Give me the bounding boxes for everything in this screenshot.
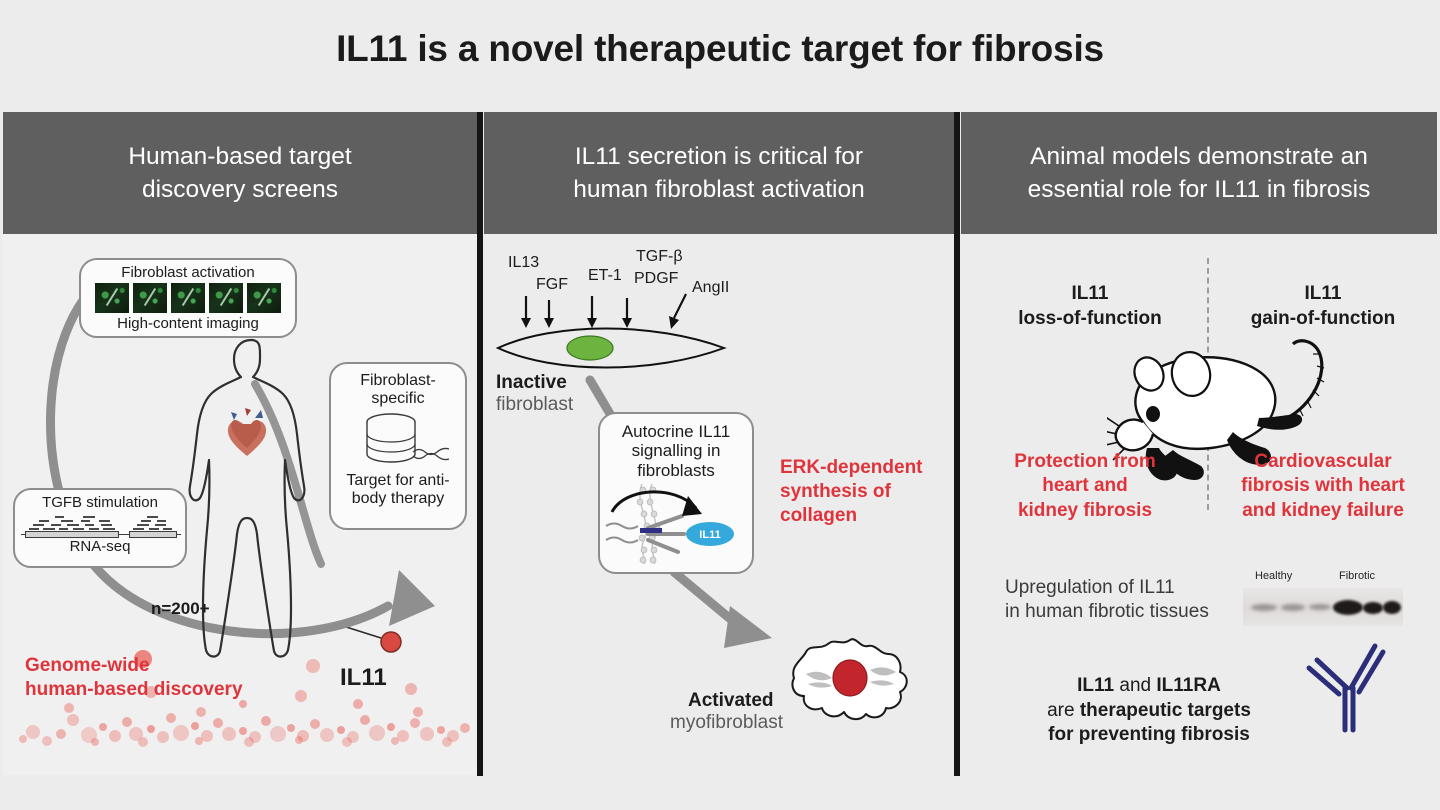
fibroblast-activation-callout: Fibroblast activation High-content imagi… bbox=[79, 258, 297, 338]
conclusion-il11: IL11 bbox=[1077, 675, 1114, 696]
gain-outcome-line-2: fibrosis with heart bbox=[1215, 474, 1431, 498]
heart-icon bbox=[228, 408, 266, 456]
loss-of-function-label: IL11 loss-of-function bbox=[985, 282, 1195, 331]
blot-caption: Upregulation of IL11 in human fibrotic t… bbox=[1005, 576, 1209, 625]
gain-outcome-line-1: Cardiovascular bbox=[1215, 450, 1431, 474]
rnaseq-callout: TGFB stimulation bbox=[13, 488, 187, 568]
page-title: IL11 is a novel therapeutic target for f… bbox=[0, 28, 1440, 70]
erk-line-3: collagen bbox=[780, 504, 923, 528]
activated-myofibroblast-illustration bbox=[776, 626, 926, 736]
blot-caption-line-2: in human fibrotic tissues bbox=[1005, 600, 1209, 624]
conclusion-are: are bbox=[1047, 700, 1080, 721]
panel-1-header-line-1: Human-based target bbox=[128, 140, 351, 173]
panel-3-header: Animal models demonstrate an essential r… bbox=[961, 112, 1437, 234]
activated-cell-bold-label: Activated bbox=[688, 690, 774, 712]
microscopy-thumbnail bbox=[95, 283, 129, 313]
gain-outcome-line-3: and kidney failure bbox=[1215, 499, 1431, 523]
erk-line-2: synthesis of bbox=[780, 480, 923, 504]
antibody-therapy-line-2: body therapy bbox=[337, 490, 459, 508]
il11-pill-label: IL11 bbox=[699, 529, 720, 541]
loss-outcome-line-2: heart and bbox=[977, 474, 1193, 498]
panel-1-body: Fibroblast activation High-content imagi… bbox=[3, 234, 477, 775]
microscopy-thumbnail bbox=[171, 283, 205, 313]
loss-of-function-line-2: loss-of-function bbox=[985, 307, 1195, 332]
graphical-abstract: IL11 is a novel therapeutic target for f… bbox=[0, 0, 1440, 810]
panel-3-body: IL11 loss-of-function IL11 gain-of-funct… bbox=[961, 234, 1437, 775]
loss-outcome-line-3: kidney fibrosis bbox=[977, 499, 1193, 523]
discovery-arrow-head bbox=[389, 570, 435, 626]
fibroblast-specific-line-2: specific bbox=[337, 390, 459, 408]
autocrine-line-1: Autocrine IL11 bbox=[604, 422, 748, 441]
rnaseq-label: RNA-seq bbox=[21, 538, 179, 555]
panel-1-header-line-2: discovery screens bbox=[128, 173, 351, 206]
autocrine-line-3: fibroblasts bbox=[604, 461, 748, 480]
rnaseq-pileup-graphic bbox=[21, 512, 181, 538]
blot-caption-line-1: Upregulation of IL11 bbox=[1005, 576, 1209, 600]
autocrine-signalling-callout: Autocrine IL11 signalling in fibroblasts bbox=[598, 412, 754, 574]
panel-2-body: IL13 FGF ET-1 TGF-β PDGF AngII bbox=[484, 234, 954, 775]
conclusion-il11ra: IL11RA bbox=[1156, 675, 1220, 696]
il11-hit-label: IL11 bbox=[340, 664, 387, 692]
il11-callout-line bbox=[343, 626, 381, 638]
flow-arrow-head bbox=[724, 606, 772, 648]
panel-2-header-line-2: human fibroblast activation bbox=[573, 173, 864, 206]
blot-label-healthy: Healthy bbox=[1255, 570, 1292, 582]
panel-3-header-line-2: essential role for IL11 in fibrosis bbox=[1028, 173, 1371, 206]
panel-divider-2 bbox=[954, 112, 960, 776]
gain-of-function-label: IL11 gain-of-function bbox=[1217, 282, 1429, 331]
fibroblast-specific-line-1: Fibroblast- bbox=[337, 372, 459, 390]
western-blot-image bbox=[1243, 588, 1403, 626]
antibody-target-callout: Fibroblast- specific Target for anti- bo… bbox=[329, 362, 467, 530]
conclusion-line-3: for preventing fibrosis bbox=[979, 723, 1319, 748]
panel-3-conclusion: IL11 and IL11RA are therapeutic targets … bbox=[979, 674, 1319, 748]
genome-wide-line-2: human-based discovery bbox=[25, 678, 243, 702]
panel-divider-1 bbox=[477, 112, 483, 776]
autocrine-line-2: signalling in bbox=[604, 441, 748, 460]
genome-wide-line-1: Genome-wide bbox=[25, 654, 243, 678]
erk-collagen-highlight: ERK-dependent synthesis of collagen bbox=[780, 456, 923, 527]
loss-of-function-line-1: IL11 bbox=[985, 282, 1195, 307]
receptor-block bbox=[640, 528, 662, 533]
il11-hit-dot bbox=[381, 632, 401, 652]
tgfb-stimulation-label: TGFB stimulation bbox=[21, 494, 179, 511]
conclusion-and: and bbox=[1114, 675, 1156, 696]
high-content-imaging-label: High-content imaging bbox=[87, 315, 289, 332]
microscopy-thumbnail-strip bbox=[87, 283, 289, 313]
antibody-therapy-line-1: Target for anti- bbox=[337, 472, 459, 490]
genome-wide-discovery-highlight: Genome-wide human-based discovery bbox=[25, 654, 243, 702]
fibroblast-activation-label: Fibroblast activation bbox=[87, 264, 289, 281]
conclusion-therapeutic-targets: therapeutic targets bbox=[1080, 700, 1251, 721]
panel-1-header: Human-based target discovery screens bbox=[3, 112, 477, 234]
microscopy-thumbnail bbox=[133, 283, 167, 313]
panel-2-header-line-1: IL11 secretion is critical for bbox=[573, 140, 864, 173]
activated-cell-label: myofibroblast bbox=[670, 712, 783, 734]
database-cylinder-icon bbox=[343, 410, 453, 472]
gain-of-function-line-1: IL11 bbox=[1217, 282, 1429, 307]
gain-of-function-line-2: gain-of-function bbox=[1217, 307, 1429, 332]
loss-outcome-line-1: Protection from bbox=[977, 450, 1193, 474]
microscopy-thumbnail bbox=[247, 283, 281, 313]
panel-2-header: IL11 secretion is critical for human fib… bbox=[484, 112, 954, 234]
blot-label-fibrotic: Fibrotic bbox=[1339, 570, 1375, 582]
membrane-receptor-diagram: IL11 bbox=[604, 482, 752, 564]
sample-size-label: n=200+ bbox=[151, 599, 210, 619]
panel-3-header-line-1: Animal models demonstrate an bbox=[1028, 140, 1371, 173]
loss-of-function-outcome: Protection from heart and kidney fibrosi… bbox=[977, 450, 1193, 523]
erk-line-1: ERK-dependent bbox=[780, 456, 923, 480]
microscopy-thumbnail bbox=[209, 283, 243, 313]
myofibroblast-nucleus bbox=[833, 660, 867, 696]
gain-of-function-outcome: Cardiovascular fibrosis with heart and k… bbox=[1215, 450, 1431, 523]
